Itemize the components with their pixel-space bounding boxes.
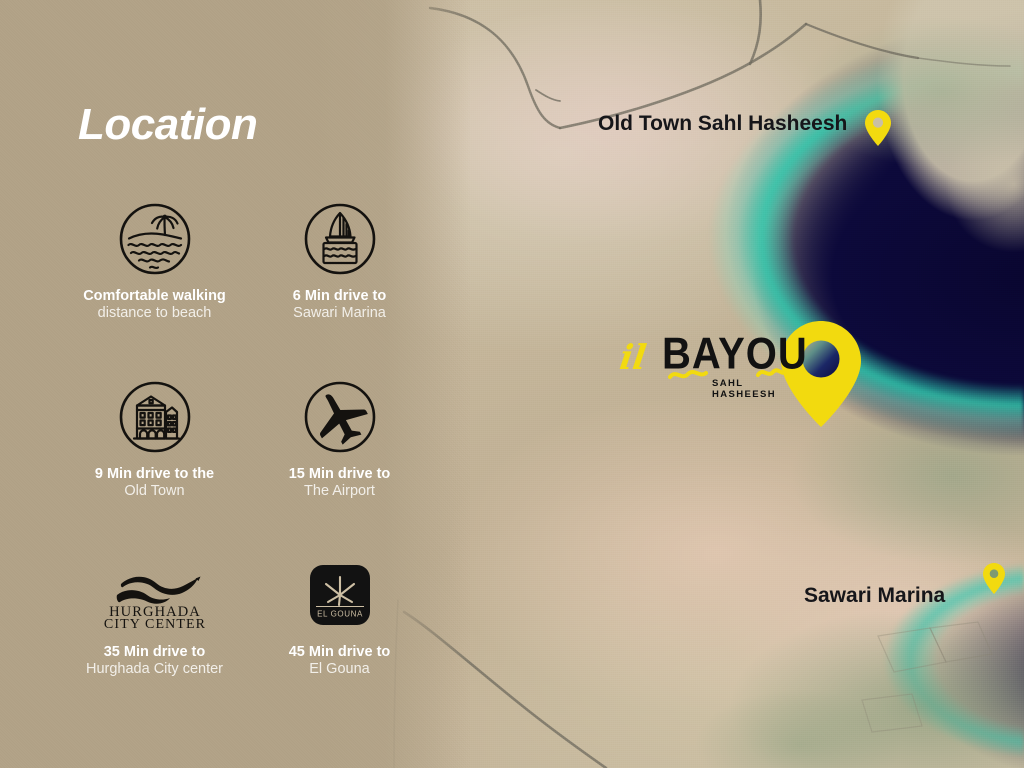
feature-line2: Old Town	[95, 483, 214, 500]
feature-line1: 15 Min drive to	[289, 466, 391, 483]
feature-item-beach[interactable]: Comfortable walking distance to beach	[62, 196, 247, 322]
feature-item-sawari-marina[interactable]: 6 Min drive to Sawari Marina	[247, 196, 432, 322]
map-pin-old-town-icon[interactable]	[864, 109, 892, 147]
feature-label: 6 Min drive to Sawari Marina	[293, 288, 386, 322]
feature-label: Comfortable walking distance to beach	[83, 288, 226, 322]
features-row: Comfortable walking distance to beach	[62, 196, 432, 322]
logo-il-text: il	[617, 338, 648, 378]
feature-line1: 45 Min drive to	[289, 644, 391, 661]
hurghada-city-center-logo: HURGHADA CITY CENTER	[99, 552, 211, 638]
feature-line1: Comfortable walking	[83, 288, 226, 305]
features-row: 9 Min drive to the Old Town 15 Min drive…	[62, 374, 432, 500]
feature-item-old-town[interactable]: 9 Min drive to the Old Town	[62, 374, 247, 500]
hurghada-logo-line2: CITY CENTER	[103, 617, 205, 630]
feature-label: 15 Min drive to The Airport	[289, 466, 391, 500]
airplane-icon	[302, 374, 378, 460]
logo-subtitle-text: SAHL HASHEESH	[712, 378, 780, 400]
feature-line2: El Gouna	[289, 661, 391, 678]
feature-item-el-gouna[interactable]: EL GOUNA 45 Min drive to El Gouna	[247, 552, 432, 678]
feature-label: 45 Min drive to El Gouna	[289, 644, 391, 678]
old-town-building-icon	[117, 374, 193, 460]
map-pin-sawari-marina-icon[interactable]	[982, 562, 1006, 595]
map-label-sawari-marina: Sawari Marina	[804, 584, 945, 608]
beach-icon	[117, 196, 193, 282]
feature-line1: 35 Min drive to	[86, 644, 223, 661]
feature-label: 35 Min drive to Hurghada City center	[86, 644, 223, 678]
feature-line2: Sawari Marina	[293, 305, 386, 322]
feature-line1: 6 Min drive to	[293, 288, 386, 305]
sailboat-marina-icon	[302, 196, 378, 282]
feature-line2: Hurghada City center	[86, 661, 223, 678]
feature-item-airport[interactable]: 15 Min drive to The Airport	[247, 374, 432, 500]
features-row: HURGHADA CITY CENTER 35 Min drive to Hur…	[62, 552, 432, 678]
features-grid: Comfortable walking distance to beach	[62, 196, 432, 678]
il-bayou-logo: il BAYOU SAHL HASHEESH	[620, 332, 780, 394]
el-gouna-logo-text: EL GOUNA	[317, 610, 363, 619]
feature-line2: distance to beach	[83, 305, 226, 322]
location-slide: Old Town Sahl Hasheesh Sawari Marina	[0, 0, 1024, 768]
el-gouna-logo: EL GOUNA	[309, 552, 371, 638]
logo-squiggle-left-icon	[668, 368, 708, 382]
feature-label: 9 Min drive to the Old Town	[95, 466, 214, 500]
map-label-old-town-sahl-hasheesh: Old Town Sahl Hasheesh	[598, 112, 847, 136]
feature-item-hurghada-city-center[interactable]: HURGHADA CITY CENTER 35 Min drive to Hur…	[62, 552, 247, 678]
page-title: Location	[78, 100, 257, 150]
feature-line1: 9 Min drive to the	[95, 466, 214, 483]
feature-line2: The Airport	[289, 483, 391, 500]
